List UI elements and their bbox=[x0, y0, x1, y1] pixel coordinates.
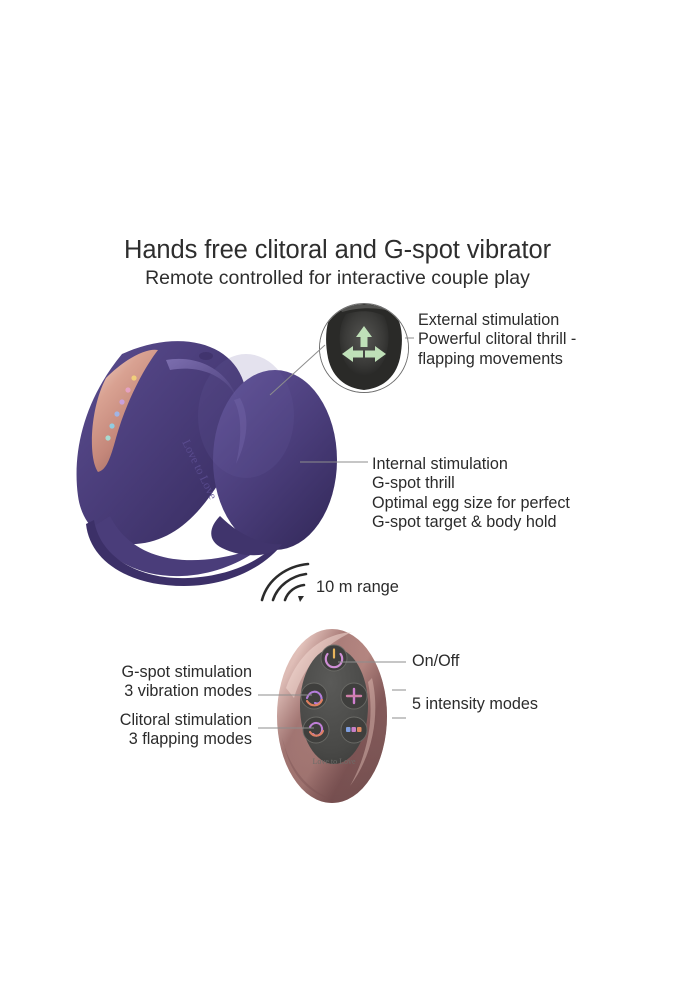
external-stimulation-callout: External stimulation Powerful clitoral t… bbox=[418, 311, 618, 369]
gspot-stimulation-label: G-spot stimulation 3 vibration modes bbox=[60, 663, 252, 702]
internal-stimulation-callout: Internal stimulation G-spot thrill Optim… bbox=[372, 455, 612, 533]
onoff-label: On/Off bbox=[412, 652, 459, 671]
intensity-modes-label: 5 intensity modes bbox=[412, 695, 538, 714]
flapping-mode-button[interactable] bbox=[303, 717, 329, 743]
remote-control-image: Love to Love bbox=[276, 628, 388, 804]
signal-waves-icon bbox=[258, 560, 314, 606]
signal-origin-dot bbox=[298, 596, 304, 602]
external-stimulation-detail-circle bbox=[319, 303, 409, 393]
remote-brand-text: Love to Love bbox=[312, 757, 356, 766]
product-button bbox=[199, 352, 213, 360]
level-bars-icon bbox=[346, 727, 362, 732]
clitoral-stimulation-label: Clitoral stimulation 3 flapping modes bbox=[60, 711, 252, 750]
range-label: 10 m range bbox=[316, 578, 399, 597]
page-subtitle: Remote controlled for interactive couple… bbox=[0, 267, 675, 290]
infographic-canvas: Hands free clitoral and G-spot vibrator … bbox=[0, 0, 675, 1000]
egg-sheen bbox=[198, 354, 294, 478]
page-title: Hands free clitoral and G-spot vibrator bbox=[0, 236, 675, 265]
